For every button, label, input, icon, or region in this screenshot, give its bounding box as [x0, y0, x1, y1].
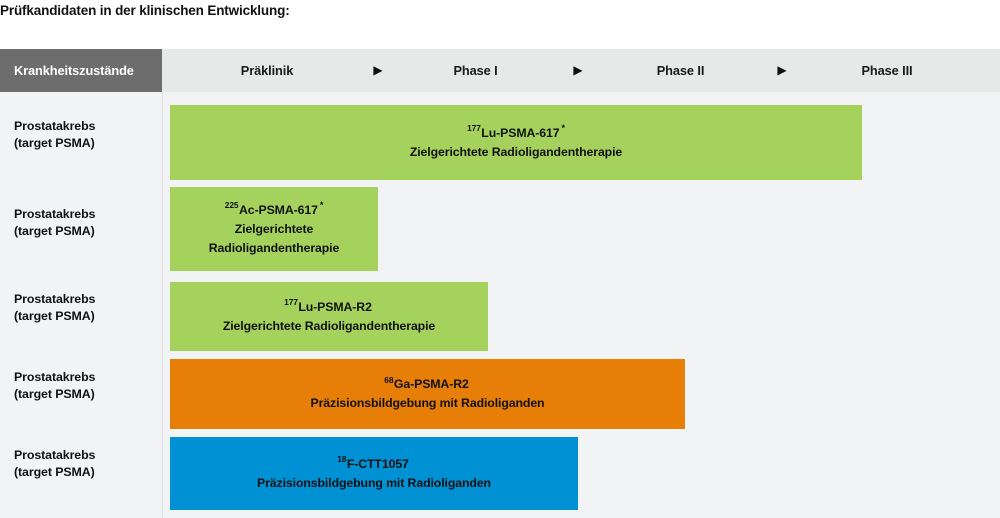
agent-name-1: Lu-PSMA-617	[481, 126, 559, 140]
agent-name-2: Ac-PSMA-617	[239, 203, 318, 217]
bar-agent-label-1: 177Lu-PSMA-617*	[467, 124, 565, 143]
pipeline-header-row: Krankheitszustände Präklinik ▶ Phase I ▶…	[0, 49, 1000, 92]
stage-arrow-icon-2: ▶	[548, 49, 608, 92]
header-cell-disease-states: Krankheitszustände	[0, 49, 162, 92]
stage-arrow-icon-3: ▶	[752, 49, 812, 92]
isotope-superscript-2: 225	[225, 200, 239, 210]
disease-target-4: (target PSMA)	[14, 386, 159, 403]
isotope-superscript-1: 177	[467, 123, 481, 133]
disease-name-3: Prostatakrebs	[14, 291, 159, 308]
isotope-superscript-5: 18	[337, 454, 347, 464]
disease-name-2: Prostatakrebs	[14, 206, 159, 223]
pipeline-bar-lu-psma-617[interactable]: 177Lu-PSMA-617* Zielgerichtete Radioliga…	[170, 105, 862, 180]
disease-name-5: Prostatakrebs	[14, 447, 159, 464]
disease-target-5: (target PSMA)	[14, 464, 159, 481]
row-label-disease-2: Prostatakrebs (target PSMA)	[14, 206, 159, 240]
agent-name-3: Lu-PSMA-R2	[298, 300, 371, 314]
bar-description-4: Präzisionsbildgebung mit Radioliganden	[311, 394, 545, 413]
table-row: Prostatakrebs (target PSMA) 225Ac-PSMA-6…	[0, 176, 1000, 271]
row-label-disease-1: Prostatakrebs (target PSMA)	[14, 118, 159, 152]
isotope-superscript-4: 68	[384, 375, 394, 385]
footnote-asterisk-1: *	[559, 123, 564, 133]
page-title: Prüfkandidaten in der klinischen Entwick…	[0, 0, 1000, 22]
bar-description-2: Zielgerichtete Radioligandentherapie	[199, 220, 349, 258]
table-row: Prostatakrebs (target PSMA) 18F-CTT1057 …	[0, 427, 1000, 518]
header-cell-praeklinik: Präklinik	[187, 49, 347, 92]
disease-target-2: (target PSMA)	[14, 223, 159, 240]
pipeline-bar-f-ctt1057[interactable]: 18F-CTT1057 Präzisionsbildgebung mit Rad…	[170, 437, 578, 510]
bar-agent-label-5: 18F-CTT1057	[337, 455, 411, 474]
row-label-disease-3: Prostatakrebs (target PSMA)	[14, 291, 159, 325]
pipeline-chart-page: Prüfkandidaten in der klinischen Entwick…	[0, 0, 1000, 518]
isotope-superscript-3: 177	[284, 297, 298, 307]
stage-arrow-icon-1: ▶	[348, 49, 408, 92]
bar-description-1: Zielgerichtete Radioligandentherapie	[410, 143, 622, 162]
agent-name-5: F-CTT1057	[347, 457, 409, 471]
header-disease-label: Krankheitszustände	[14, 63, 134, 78]
pipeline-bar-ga-psma-r2[interactable]: 68Ga-PSMA-R2 Präzisionsbildgebung mit Ra…	[170, 359, 685, 429]
pipeline-bar-ac-psma-617[interactable]: 225Ac-PSMA-617* Zielgerichtete Radioliga…	[170, 187, 378, 271]
table-row: Prostatakrebs (target PSMA) 68Ga-PSMA-R2…	[0, 349, 1000, 427]
agent-name-4: Ga-PSMA-R2	[394, 377, 469, 391]
footnote-asterisk-3	[372, 297, 374, 307]
disease-target-3: (target PSMA)	[14, 308, 159, 325]
table-row: Prostatakrebs (target PSMA) 177Lu-PSMA-6…	[0, 92, 1000, 176]
footnote-asterisk-4	[469, 375, 471, 385]
header-cell-phase-i: Phase I	[408, 49, 543, 92]
footnote-asterisk-2: *	[318, 200, 323, 210]
footnote-asterisk-5	[409, 454, 411, 464]
row-label-disease-5: Prostatakrebs (target PSMA)	[14, 447, 159, 481]
bar-agent-label-3: 177Lu-PSMA-R2	[284, 298, 374, 317]
bar-agent-label-2: 225Ac-PSMA-617*	[225, 201, 323, 220]
disease-target-1: (target PSMA)	[14, 135, 159, 152]
bar-agent-label-4: 68Ga-PSMA-R2	[384, 375, 470, 394]
row-label-disease-4: Prostatakrebs (target PSMA)	[14, 369, 159, 403]
pipeline-body: Prostatakrebs (target PSMA) 177Lu-PSMA-6…	[0, 92, 1000, 518]
header-cell-phase-iii: Phase III	[812, 49, 962, 92]
table-row: Prostatakrebs (target PSMA) 177Lu-PSMA-R…	[0, 271, 1000, 349]
pipeline-bar-lu-psma-r2[interactable]: 177Lu-PSMA-R2 Zielgerichtete Radioligand…	[170, 282, 488, 351]
bar-description-5: Präzisionsbildgebung mit Radioliganden	[257, 474, 491, 493]
disease-name-1: Prostatakrebs	[14, 118, 159, 135]
bar-description-3: Zielgerichtete Radioligandentherapie	[223, 317, 435, 336]
header-cell-phase-ii: Phase II	[608, 49, 753, 92]
disease-name-4: Prostatakrebs	[14, 369, 159, 386]
pipeline-table: Krankheitszustände Präklinik ▶ Phase I ▶…	[0, 49, 1000, 518]
